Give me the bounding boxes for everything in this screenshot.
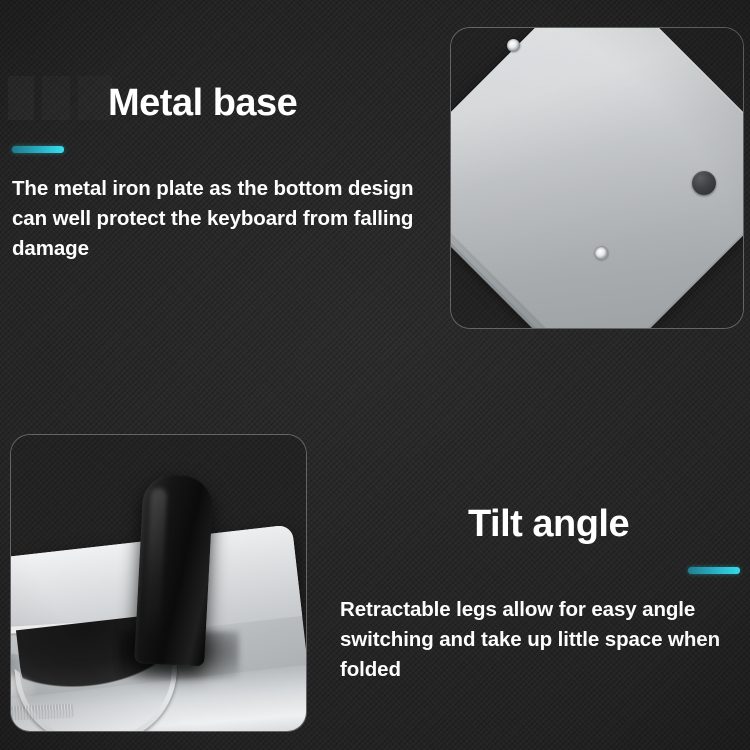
product-feature-infographic: Metal base The metal iron plate as the b… (0, 0, 750, 750)
photo-panel-metal-base (450, 27, 744, 329)
accent-bar-metal-base (12, 146, 64, 153)
feature-body-tilt-angle: Retractable legs allow for easy angle sw… (340, 595, 740, 685)
photo-inner-tilt-angle (11, 435, 306, 731)
feature-title-tilt-angle: Tilt angle (468, 505, 740, 543)
feature-title-metal-base: Metal base (108, 84, 442, 122)
photo-inner-metal-base (451, 28, 743, 328)
rubber-foot-pad (692, 171, 716, 195)
screw-bottom (595, 247, 608, 260)
screw-top (507, 39, 520, 52)
accent-bar-tilt-angle (688, 567, 740, 574)
retractable-leg-sheen (143, 488, 167, 639)
feature-block-metal-base: Metal base The metal iron plate as the b… (12, 84, 442, 264)
retractable-leg (134, 473, 214, 666)
feature-block-tilt-angle: Tilt angle Retractable legs allow for ea… (340, 505, 740, 685)
feature-body-metal-base: The metal iron plate as the bottom desig… (12, 174, 442, 264)
photo-panel-tilt-angle (10, 434, 307, 732)
